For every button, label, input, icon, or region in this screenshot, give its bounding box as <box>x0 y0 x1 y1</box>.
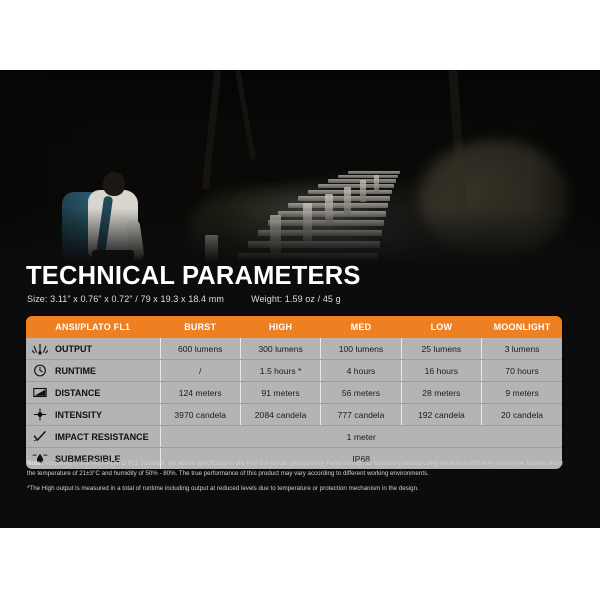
page-title: TECHNICAL PARAMETERS <box>26 264 361 290</box>
beam-icon <box>32 385 48 400</box>
stair-tread <box>318 184 394 188</box>
cell-intensity-high: 2084 candela <box>240 404 320 426</box>
cell-distance-burst: 124 meters <box>160 382 240 404</box>
cell-output-burst: 600 lumens <box>160 338 240 360</box>
column-header-high: HIGH <box>240 316 320 338</box>
table-row: OUTPUT 600 lumens 300 lumens 100 lumens … <box>26 338 562 360</box>
spec-table-wrapper: ANSI/PLATO FL1 BURST HIGH MED LOW MOONLI… <box>26 316 562 469</box>
column-header-low: LOW <box>401 316 481 338</box>
cell-impact-resistance-value: 1 meter <box>160 426 562 448</box>
cell-intensity-low: 192 candela <box>401 404 481 426</box>
row-label-text: OUTPUT <box>55 344 92 354</box>
table-row: DISTANCE 124 meters 91 meters 56 meters … <box>26 382 562 404</box>
row-label-text: IMPACT RESISTANCE <box>55 432 149 442</box>
stair-tread <box>348 171 400 174</box>
table-header-row: ANSI/PLATO FL1 BURST HIGH MED LOW MOONLI… <box>26 316 562 338</box>
cell-intensity-med: 777 candela <box>321 404 401 426</box>
note-label: Note: <box>27 460 43 467</box>
cell-runtime-high: 1.5 hours * <box>240 360 320 382</box>
column-header-med: MED <box>321 316 401 338</box>
railing-post <box>360 180 366 202</box>
column-header-standard: ANSI/PLATO FL1 <box>26 316 160 338</box>
note-paragraph: Note: According to the ANSI/PLATO FL1 st… <box>27 459 567 479</box>
note-body: According to the ANSI/PLATO FL1 standard… <box>27 460 563 477</box>
size-weight-line: Size: 3.11" x 0.76" x 0.72" / 79 x 19.3 … <box>27 294 341 304</box>
footnote-paragraph: *The High output is measured in a total … <box>27 484 567 494</box>
cell-distance-high: 91 meters <box>240 382 320 404</box>
table-row: IMPACT RESISTANCE 1 meter <box>26 426 562 448</box>
cell-runtime-low: 16 hours <box>401 360 481 382</box>
cell-runtime-moonlight: 70 hours <box>482 360 562 382</box>
cell-intensity-burst: 3970 candela <box>160 404 240 426</box>
cell-distance-moonlight: 9 meters <box>482 382 562 404</box>
spec-table: ANSI/PLATO FL1 BURST HIGH MED LOW MOONLI… <box>26 316 562 469</box>
cell-intensity-moonlight: 20 candela <box>482 404 562 426</box>
table-row: RUNTIME / 1.5 hours * 4 hours 16 hours 7… <box>26 360 562 382</box>
clock-icon <box>32 363 48 378</box>
spec-panel: TECHNICAL PARAMETERS Size: 3.11" x 0.76"… <box>0 70 600 528</box>
cell-output-high: 300 lumens <box>240 338 320 360</box>
column-header-burst: BURST <box>160 316 240 338</box>
cell-output-med: 100 lumens <box>321 338 401 360</box>
hero-photo <box>0 70 600 270</box>
size-text: Size: 3.11" x 0.76" x 0.72" / 79 x 19.3 … <box>27 294 224 304</box>
row-label-text: DISTANCE <box>55 388 100 398</box>
weight-text: Weight: 1.59 oz / 45 g <box>251 294 341 304</box>
row-label-output: OUTPUT <box>26 338 160 360</box>
row-label-text: RUNTIME <box>55 366 96 376</box>
cell-runtime-burst: / <box>160 360 240 382</box>
cell-distance-med: 56 meters <box>321 382 401 404</box>
photo-bottom-fade <box>0 208 600 270</box>
row-label-text: INTENSITY <box>55 410 102 420</box>
row-label-impact-resistance: IMPACT RESISTANCE <box>26 426 160 448</box>
stair-tread <box>338 175 398 178</box>
crosshair-icon <box>32 407 48 422</box>
cell-output-moonlight: 3 lumens <box>482 338 562 360</box>
page-root: TECHNICAL PARAMETERS Size: 3.11" x 0.76"… <box>0 0 600 600</box>
cell-distance-low: 28 meters <box>401 382 481 404</box>
cell-output-low: 25 lumens <box>401 338 481 360</box>
sunburst-icon <box>32 341 48 356</box>
cell-runtime-med: 4 hours <box>321 360 401 382</box>
row-label-intensity: INTENSITY <box>26 404 160 426</box>
column-header-moonlight: MOONLIGHT <box>482 316 562 338</box>
hiker-head <box>103 172 125 196</box>
railing-post <box>374 175 379 193</box>
row-label-runtime: RUNTIME <box>26 360 160 382</box>
impact-icon <box>32 429 48 444</box>
table-row: INTENSITY 3970 candela 2084 candela 777 … <box>26 404 562 426</box>
row-label-distance: DISTANCE <box>26 382 160 404</box>
